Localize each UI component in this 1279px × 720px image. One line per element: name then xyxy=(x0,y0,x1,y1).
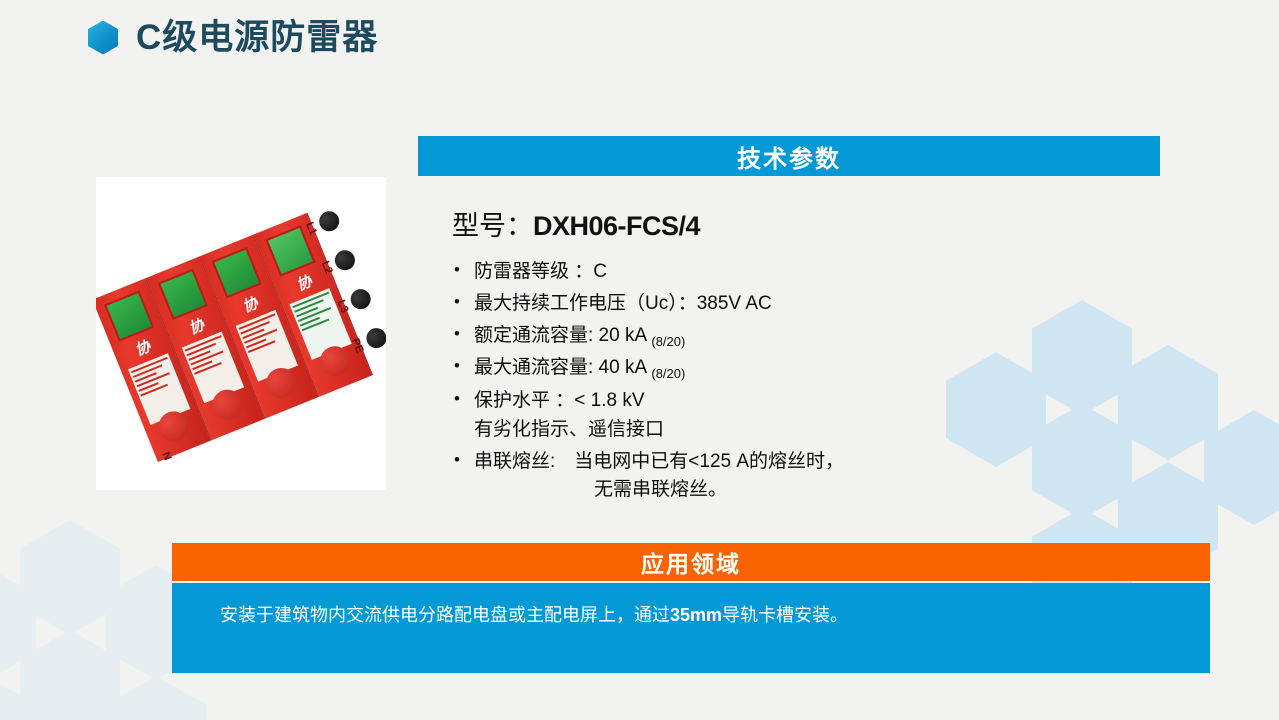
status-window xyxy=(158,268,208,319)
status-window xyxy=(212,246,262,297)
spec-text: 最大持续工作电压（Uc）：385V AC xyxy=(474,293,772,314)
spec-item-grade: 防雷器等级 ：C xyxy=(452,258,1152,287)
terminal-l3 xyxy=(348,286,374,312)
application-area-body: 安装于建筑物内交流供电分路配电盘或主配电屏上，通过35mm导轨卡槽安装。 xyxy=(172,583,1210,673)
spec-item-series-fuse: 串联熔丝: 当电网中已有<125 A的熔丝时， 无需串联熔丝。 xyxy=(452,448,1152,506)
terminal-l1 xyxy=(316,208,342,234)
hexagon-decoration xyxy=(1204,410,1279,525)
spec-item-protection-level: 保护水平 ：< 1.8 kV 有劣化指示、遥信接口 xyxy=(452,387,1152,445)
spec-item-uc: 最大持续工作电压（Uc）：385V AC xyxy=(452,290,1152,319)
hexagon-decoration xyxy=(106,676,206,720)
hexagon-icon xyxy=(88,21,118,55)
terminal-pe xyxy=(363,325,386,351)
spec-list: 防雷器等级 ：C 最大持续工作电压（Uc）：385V AC 额定通流容量: 20… xyxy=(452,258,1152,508)
spec-subscript: (8/20) xyxy=(651,334,685,349)
hexagon-decoration xyxy=(20,520,120,635)
application-area-text: 安装于建筑物内交流供电分路配电盘或主配电屏上，通过35mm导轨卡槽安装。 xyxy=(220,601,848,627)
spd-device-illustration: 协 协 协 协 xyxy=(96,206,386,462)
hexagon-decoration xyxy=(0,676,36,720)
product-image: 协 协 协 协 xyxy=(96,177,386,490)
model-value: DXH06-FCS/4 xyxy=(533,211,700,241)
spec-item-nominal-current: 额定通流容量: 20 kA (8/20) xyxy=(452,322,1152,352)
application-text-after: 导轨卡槽安装。 xyxy=(722,605,848,625)
tech-parameters-header: 技术参数 xyxy=(418,136,1160,176)
hexagon-decoration xyxy=(20,630,120,720)
page-title: C级电源防雷器 xyxy=(136,20,378,55)
status-window xyxy=(104,290,154,341)
hexagon-decoration xyxy=(0,566,36,681)
model-label: 型号： xyxy=(452,211,533,241)
application-area-header: 应用领域 xyxy=(172,543,1210,581)
spec-text: 防雷器等级 ：C xyxy=(474,261,607,282)
terminal-l2 xyxy=(332,247,358,273)
spec-text: 额定通流容量: 20 kA xyxy=(474,325,651,346)
spec-text: 保护水平 ：< 1.8 kV xyxy=(474,390,645,411)
model-line: 型号：DXH06-FCS/4 xyxy=(452,204,700,243)
spec-text: 串联熔丝: 当电网中已有<125 A的熔丝时， xyxy=(474,451,844,472)
spec-text: 最大通流容量: 40 kA xyxy=(474,357,651,378)
application-text-before: 安装于建筑物内交流供电分路配电盘或主配电屏上，通过 xyxy=(220,605,670,625)
spec-item-max-current: 最大通流容量: 40 kA (8/20) xyxy=(452,354,1152,384)
page-header: C级电源防雷器 xyxy=(88,20,378,55)
application-text-bold: 35mm xyxy=(670,605,722,625)
spec-subscript: (8/20) xyxy=(651,366,685,381)
spec-continuation: 无需串联熔丝。 xyxy=(474,476,1152,505)
spec-continuation: 有劣化指示、遥信接口 xyxy=(474,416,1152,445)
